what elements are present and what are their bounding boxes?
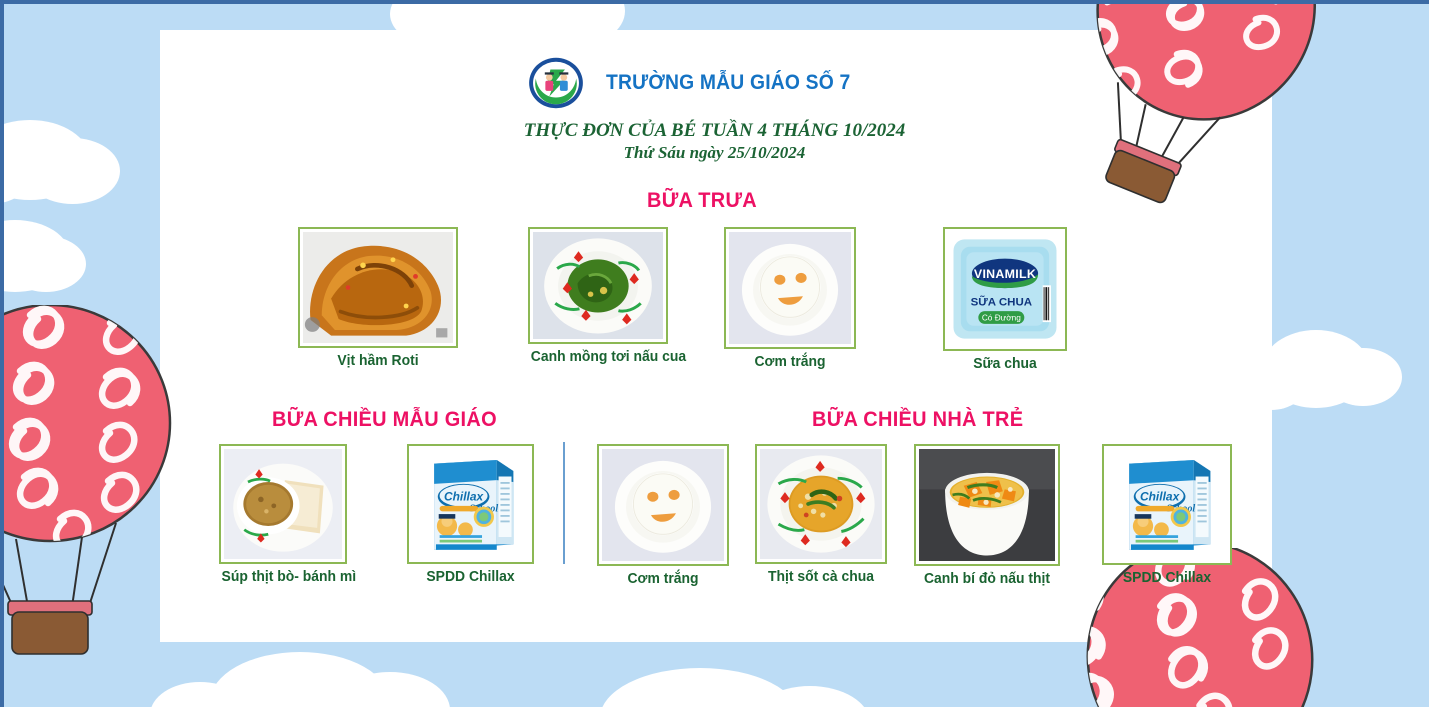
food-caption: Cơm trắng [600, 571, 727, 587]
food-item-chillax-nursery[interactable]: Chillax School [1102, 444, 1232, 586]
slide-left-border [0, 0, 4, 707]
balloon-top-right-icon [1078, 0, 1378, 204]
svg-text:VINAMILK: VINAMILK [974, 267, 1036, 281]
cloud-left-upper [0, 220, 70, 292]
food-caption: Sữa chua [945, 356, 1064, 372]
food-thumb [597, 444, 729, 566]
section-heading-lunch: BỮA TRƯA [647, 189, 757, 213]
food-thumb: Chillax School [407, 444, 534, 564]
cloud-bottom-left [210, 652, 390, 707]
food-item-yogurt[interactable]: VINAMILK SỮA CHUA Có Đường Sữa chua [943, 227, 1067, 372]
school-logo-icon [528, 57, 584, 109]
section-heading-afternoon-nursery: BỮA CHIỀU NHÀ TRẺ [812, 408, 1023, 432]
food-caption: Thịt sốt cà chua [758, 569, 885, 585]
slide-top-border [0, 0, 1429, 4]
menu-title-line1: THỰC ĐƠN CỦA BÉ TUẦN 4 THÁNG 10/2024 [0, 120, 1429, 142]
food-thumb: VINAMILK SỮA CHUA Có Đường [943, 227, 1067, 351]
food-item-chillax-kindergarten[interactable]: Chillax School [407, 444, 534, 585]
section-divider [563, 442, 565, 564]
menu-title: THỰC ĐƠN CỦA BÉ TUẦN 4 THÁNG 10/2024 Thứ… [0, 120, 1429, 164]
food-caption: Vịt hầm Roti [301, 353, 455, 369]
slide-canvas: TRƯỜNG MẪU GIÁO SỐ 7 THỰC ĐƠN CỦA BÉ TUẦ… [0, 0, 1429, 707]
header: TRƯỜNG MẪU GIÁO SỐ 7 [528, 57, 872, 109]
food-caption: Cơm trắng [727, 354, 854, 370]
svg-text:Chillax: Chillax [444, 489, 485, 503]
food-thumb: Chillax School [1102, 444, 1232, 565]
cloud-right [1262, 330, 1370, 408]
food-thumb [724, 227, 856, 349]
cloud-bottom-center [600, 668, 800, 707]
food-caption: Canh mồng tơi nấu cua [531, 349, 665, 365]
svg-text:Có Đường: Có Đường [982, 313, 1021, 322]
food-caption: Canh bí đỏ nấu thịt [917, 571, 1057, 587]
food-item-soup-bread[interactable]: Súp thịt bò- bánh mì [219, 444, 347, 585]
food-item-pumpkin-soup[interactable]: Canh bí đỏ nấu thịt [914, 444, 1060, 587]
school-name: TRƯỜNG MẪU GIÁO SỐ 7 [606, 71, 850, 95]
food-caption: Súp thịt bò- bánh mì [222, 569, 345, 585]
food-thumb [528, 227, 668, 344]
food-item-duck[interactable]: Vịt hầm Roti [298, 227, 458, 369]
food-caption: SPDD Chillax [410, 569, 532, 585]
food-thumb [298, 227, 458, 348]
balloon-left-icon [0, 305, 220, 665]
section-heading-afternoon-kindergarten: BỮA CHIỀU MẪU GIÁO [272, 408, 497, 432]
food-thumb [755, 444, 887, 564]
food-item-rice-lunch[interactable]: Cơm trắng [724, 227, 856, 370]
food-item-rice-nursery[interactable]: Cơm trắng [597, 444, 729, 587]
food-caption: SPDD Chillax [1105, 570, 1230, 586]
menu-title-line2: Thứ Sáu ngày 25/10/2024 [0, 142, 1429, 164]
food-item-tomato-meat[interactable]: Thịt sốt cà chua [755, 444, 887, 585]
food-item-soup-green[interactable]: Canh mồng tơi nấu cua [528, 227, 668, 365]
food-thumb [219, 444, 347, 564]
food-thumb [914, 444, 1060, 566]
svg-text:Chillax: Chillax [1140, 489, 1181, 503]
svg-text:SỮA CHUA: SỮA CHUA [971, 296, 1032, 309]
